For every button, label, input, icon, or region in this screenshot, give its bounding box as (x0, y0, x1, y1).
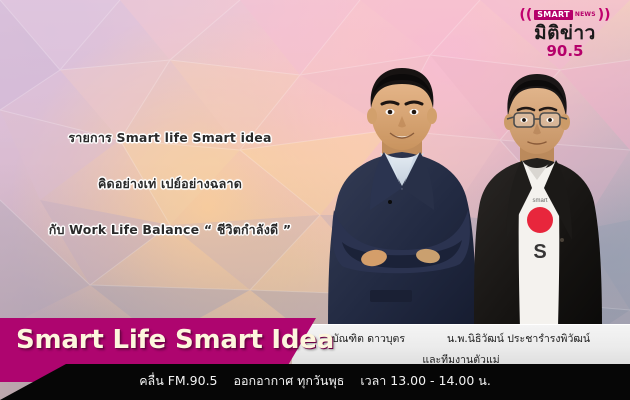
hosts-name-row: บัณฑิต ดาวบุตร น.พ.นิธิวัฒน์ ประชารำรงพิ… (292, 325, 630, 347)
host-nithiwat-photo: S smart (462, 68, 612, 328)
bottom-bar: บัณฑิต ดาวบุตร น.พ.นิธิวัฒน์ ประชารำรงพิ… (0, 318, 630, 400)
airtime-content: คลื่น FM.90.5 ออกอากาศ ทุกวันพุธ เวลา 13… (0, 371, 630, 391)
station-logo: (( SMART NEWS )) มิติข่าว 90.5 (512, 8, 618, 59)
host-name-2: น.พ.นิธิวัฒน์ ประชารำรงพิวัฒน์ (447, 330, 590, 347)
host-bandit-photo (318, 60, 486, 328)
airtime-station: คลื่น FM.90.5 (139, 373, 217, 388)
host-name-1: บัณฑิต ดาวบุตร (332, 330, 405, 347)
airtime-time: เวลา 13.00 - 14.00 น. (360, 373, 490, 388)
logo-left-paren: (( (519, 8, 532, 22)
logo-smart-word: SMART (534, 10, 573, 20)
show-title-text: Smart Life Smart Idea (16, 325, 334, 355)
svg-text:S: S (533, 241, 546, 263)
logo-right-paren: )) (598, 8, 611, 22)
svg-text:smart: smart (533, 198, 548, 204)
smart-news-wordmark: (( SMART NEWS )) (512, 8, 618, 22)
promo-copy-block: รายการ Smart life Smart idea คิดอย่างเท่… (0, 128, 340, 240)
promo-banner: (( SMART NEWS )) มิติข่าว 90.5 (0, 0, 630, 400)
logo-news-word: NEWS (575, 12, 596, 18)
logo-station-name: มิติข่าว (512, 24, 618, 43)
copy-line-1: รายการ Smart life Smart idea (0, 128, 340, 148)
airtime-broadcast: ออกอากาศ ทุกวันพุธ (234, 373, 345, 388)
copy-line-3: กับ Work Life Balance “ ชีวิตกำลังดี ” (0, 220, 340, 240)
logo-frequency: 90.5 (512, 44, 618, 59)
copy-line-2: คิดอย่างเท่ เปย์อย่างฉลาด (0, 174, 340, 194)
airtime-bar: คลื่น FM.90.5 ออกอากาศ ทุกวันพุธ เวลา 13… (0, 364, 630, 400)
